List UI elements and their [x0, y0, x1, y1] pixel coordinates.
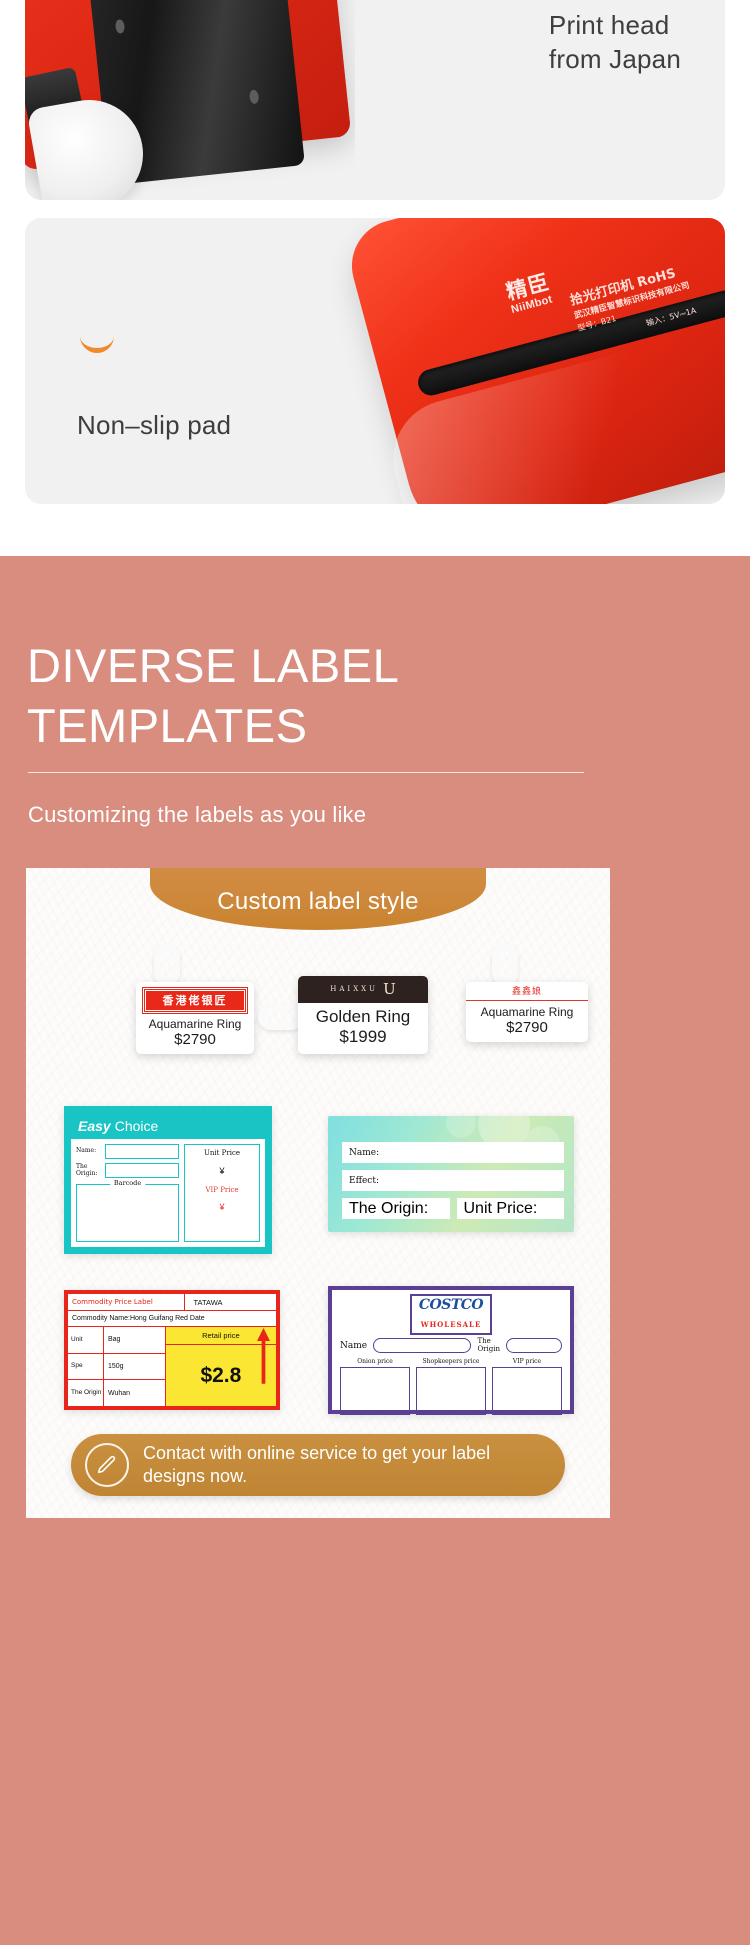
commodity-grid: Unit Bag Spe 150g The Origin Wuhan Retai… — [68, 1327, 276, 1406]
tag-brand-name: HAIXXU — [330, 985, 378, 993]
cavity-screw-icon — [115, 19, 125, 34]
row-key: Unit — [68, 1327, 104, 1353]
swoosh-accent-icon — [80, 336, 114, 353]
row-key: Spe — [68, 1354, 104, 1380]
feature-label-print-head: Print head from Japan — [549, 8, 681, 77]
commodity-attributes: Unit Bag Spe 150g The Origin Wuhan — [68, 1327, 166, 1406]
printer-photo-print-head — [25, 0, 355, 200]
tag-price: $1999 — [298, 1027, 428, 1047]
name-label: Name — [340, 1341, 367, 1351]
section-subtitle: Customizing the labels as you like — [28, 802, 366, 828]
commodity-row: Unit Bag — [68, 1327, 165, 1354]
commodity-row: Spe 150g — [68, 1354, 165, 1381]
label-template-teal-gradient[interactable]: Name: Effect: The Origin: Unit Price: — [328, 1116, 574, 1232]
easy-choice-brand-bold: Easy — [78, 1118, 111, 1134]
name-input[interactable] — [373, 1338, 471, 1353]
field-label: The Origin: — [76, 1164, 102, 1177]
easy-choice-right-column: Unit Price ¥ VIP Price ¥ — [184, 1144, 260, 1242]
retail-price-box: $2.8 — [166, 1345, 276, 1406]
teal-field-name[interactable]: Name: — [342, 1142, 564, 1163]
field-input[interactable] — [105, 1163, 179, 1178]
origin-label: The Origin — [477, 1338, 500, 1353]
field-label: Effect: — [349, 1176, 379, 1186]
tag-price: $2790 — [136, 1031, 254, 1048]
vip-price-currency: ¥ — [188, 1202, 256, 1212]
costco-name-row: Name The Origin — [332, 1338, 570, 1353]
tag-header-brand: HAIXXU U — [298, 976, 428, 1003]
barcode-label: Barcode — [110, 1179, 145, 1187]
row-value: 150g — [104, 1354, 165, 1380]
label-template-commodity-price[interactable]: Commodity Price Label TATAWA Commodity N… — [64, 1290, 280, 1410]
tag-card: 鑫鑫娘 Aquamarine Ring $2790 — [466, 982, 588, 1042]
label-showcase-panel: Custom label style 香港佬银匠 Aquamarine Ring… — [26, 868, 610, 1518]
banner-label: Custom label style — [217, 888, 418, 916]
feature-card-print-head: Print head from Japan — [25, 0, 725, 200]
pencil-icon — [85, 1443, 129, 1487]
row-value: Bag — [104, 1327, 165, 1353]
costco-logo-sub: WHOLESALE — [421, 1320, 482, 1329]
commodity-row: The Origin Wuhan — [68, 1380, 165, 1406]
teal-field-unit-price[interactable]: Unit Price: — [457, 1198, 565, 1219]
retail-price-value: $2.8 — [200, 1364, 241, 1388]
commodity-title: Commodity Price Label — [68, 1298, 184, 1306]
tag-header-stamp: 香港佬银匠 — [143, 988, 247, 1013]
feature-label-non-slip-pad: Non–slip pad — [77, 408, 231, 442]
field-label: Unit Price: — [464, 1200, 538, 1218]
field-input[interactable] — [105, 1144, 179, 1159]
tag-card: HAIXXU U Golden Ring $1999 — [298, 976, 428, 1054]
teal-template-fields: Name: Effect: The Origin: Unit Price: — [342, 1142, 564, 1219]
tag-header-stamp: 鑫鑫娘 — [466, 982, 588, 1001]
field-label: The Origin: — [349, 1200, 428, 1218]
cta-label: Contact with online service to get your … — [143, 1442, 490, 1489]
label-template-costco[interactable]: COSTCO WHOLESALE Name The Origin Onion p… — [328, 1286, 574, 1414]
teal-field-effect[interactable]: Effect: — [342, 1170, 564, 1191]
column-box[interactable] — [492, 1367, 562, 1415]
field-label: Name: — [349, 1148, 379, 1158]
teal-field-origin[interactable]: The Origin: — [342, 1198, 450, 1219]
costco-price-column: Onion price — [340, 1358, 410, 1415]
easy-choice-brand-light: Choice — [115, 1118, 159, 1134]
costco-price-column: VIP price — [492, 1358, 562, 1415]
costco-price-columns: Onion price Shopkeepers price VIP price — [332, 1353, 570, 1415]
label-template-easy-choice[interactable]: Easy Choice Name: The Origin: Barcode — [64, 1106, 272, 1254]
tag-stem-shape — [492, 944, 518, 986]
tag-brand-mark: U — [383, 980, 396, 998]
field-label: Name: — [76, 1148, 102, 1154]
tag-stem-shape — [154, 944, 180, 986]
vip-price-label: VIP Price — [188, 1186, 256, 1194]
tag-card: 香港佬银匠 Aquamarine Ring $2790 — [136, 982, 254, 1054]
row-value: Wuhan — [104, 1380, 165, 1406]
costco-logo: COSTCO WHOLESALE — [410, 1294, 492, 1335]
costco-price-column: Shopkeepers price — [416, 1358, 486, 1415]
decorative-blob — [446, 1116, 476, 1138]
easy-choice-field-name: Name: — [76, 1144, 179, 1159]
cavity-screw-icon — [249, 89, 259, 104]
tag-product-name: Aquamarine Ring — [136, 1017, 254, 1031]
origin-input[interactable] — [506, 1338, 562, 1353]
column-box[interactable] — [416, 1367, 486, 1415]
section-divider — [28, 772, 584, 773]
easy-choice-left-column: Name: The Origin: Barcode — [76, 1144, 179, 1242]
unit-price-label: Unit Price — [188, 1149, 256, 1157]
costco-logo-block: COSTCO WHOLESALE — [332, 1290, 570, 1338]
costco-logo-main: COSTCO — [419, 1297, 483, 1313]
easy-choice-header: Easy Choice — [71, 1113, 265, 1139]
commodity-title-row: Commodity Price Label TATAWA — [68, 1294, 276, 1311]
unit-price-currency: ¥ — [188, 1166, 256, 1176]
easy-choice-barcode-box[interactable]: Barcode — [76, 1184, 179, 1242]
column-box[interactable] — [340, 1367, 410, 1415]
row-key: The Origin — [68, 1380, 104, 1406]
easy-choice-body: Name: The Origin: Barcode Unit Price ¥ V… — [71, 1139, 265, 1247]
feature-card-non-slip-pad: 精臣 NiiMbot 拾光打印机 RoHS 武汉精臣智慧标识科技有限公司 型号：… — [25, 218, 725, 504]
diverse-label-templates-section: DIVERSE LABEL TEMPLATES Customizing the … — [0, 556, 750, 1945]
teal-field-split-row: The Origin: Unit Price: — [342, 1198, 564, 1219]
printer-photo-non-slip: 精臣 NiiMbot 拾光打印机 RoHS 武汉精臣智慧标识科技有限公司 型号：… — [315, 218, 725, 504]
column-label: Onion price — [340, 1358, 410, 1365]
commodity-brand: TATAWA — [184, 1294, 276, 1310]
commodity-price-column: Retail price $2.8 — [166, 1327, 276, 1406]
easy-choice-field-origin: The Origin: — [76, 1163, 179, 1178]
commodity-name-row: Commodity Name:Hong Guifang Red Date — [68, 1311, 276, 1327]
section-heading: DIVERSE LABEL TEMPLATES — [27, 636, 399, 756]
tag-product-name: Aquamarine Ring — [466, 1005, 588, 1019]
tag-price: $2790 — [466, 1019, 588, 1036]
contact-online-service-button[interactable]: Contact with online service to get your … — [71, 1434, 565, 1496]
up-arrow-icon — [257, 1328, 270, 1384]
column-label: Shopkeepers price — [416, 1358, 486, 1365]
column-label: VIP price — [492, 1358, 562, 1365]
tag-product-name: Golden Ring — [298, 1007, 428, 1027]
